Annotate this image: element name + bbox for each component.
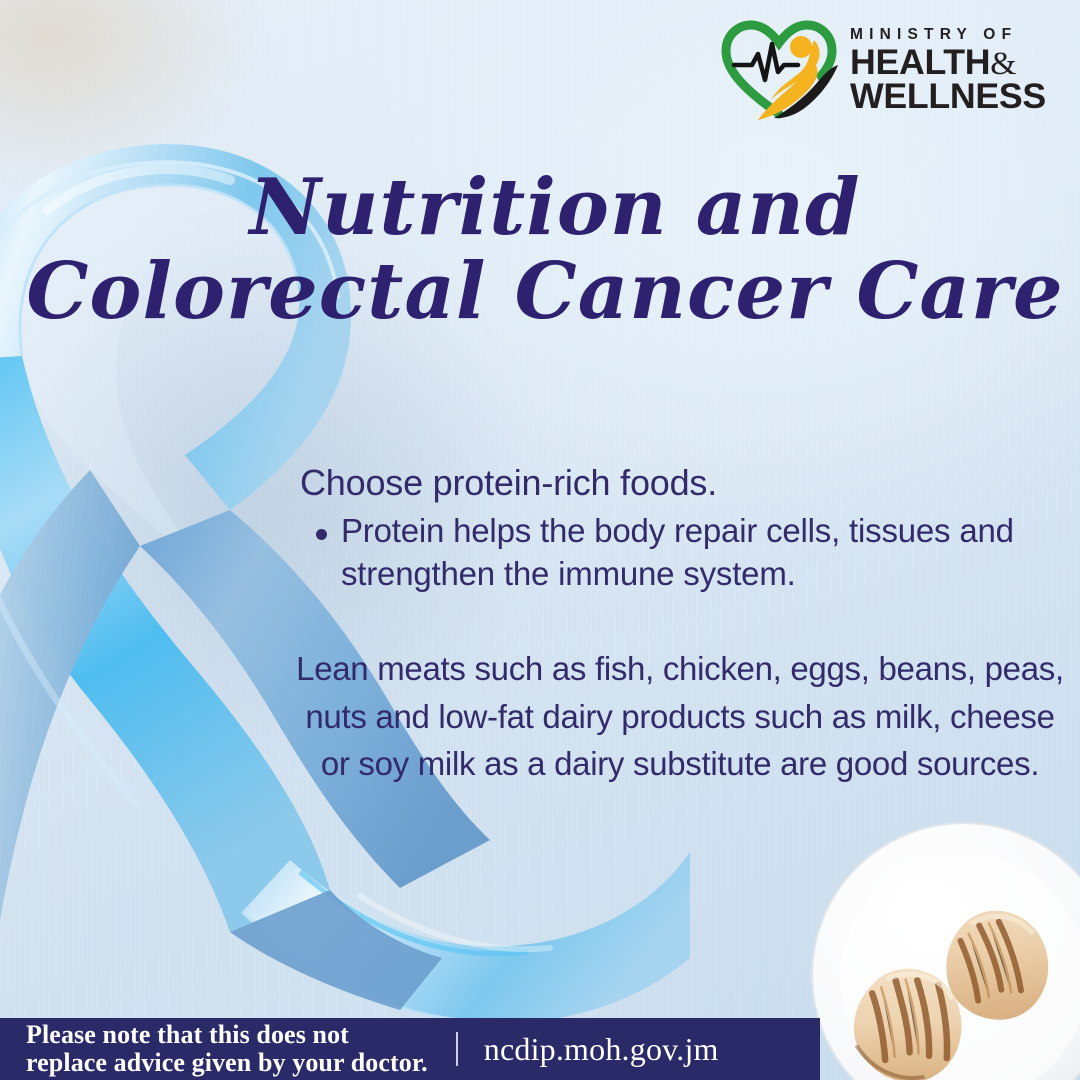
ministry-logo: MINISTRY OF HEALTH& WELLNESS: [718, 18, 1042, 122]
title-line-2: Colorectal Cancer Care: [0, 250, 1080, 334]
bullet-dot-icon: [316, 529, 327, 540]
logo-health-text: HEALTH: [850, 43, 990, 82]
logo-wellness-line: WELLNESS: [850, 80, 1046, 114]
list-item: Protein helps the body repair cells, tis…: [316, 510, 1072, 596]
bullet-text: Protein helps the body repair cells, tis…: [341, 510, 1031, 596]
logo-ministry-line: MINISTRY OF: [850, 27, 1042, 43]
lead-heading: Choose protein-rich foods.: [300, 462, 1072, 504]
poster-canvas: MINISTRY OF HEALTH& WELLNESS Nutrition a…: [0, 0, 1080, 1080]
supporting-paragraph: Lean meats such as fish, chicken, eggs, …: [288, 645, 1072, 788]
footer-bar: Please note that this does not replace a…: [0, 1018, 820, 1080]
logo-wordmark: MINISTRY OF HEALTH& WELLNESS: [850, 25, 1042, 114]
footer-divider: [456, 1032, 458, 1066]
title-line-1: Nutrition and: [0, 168, 1080, 248]
content-block: Choose protein-rich foods. Protein helps…: [288, 462, 1072, 596]
logo-health-line: HEALTH&: [850, 46, 1046, 80]
page-title: Nutrition and Colorectal Cancer Care: [0, 168, 1080, 334]
grilled-chicken-plate-image: [806, 800, 1080, 1080]
disclaimer-text: Please note that this does not replace a…: [26, 1021, 428, 1076]
website-url[interactable]: ncdip.moh.gov.jm: [484, 1031, 719, 1068]
heart-ecg-person-icon: [718, 18, 840, 122]
